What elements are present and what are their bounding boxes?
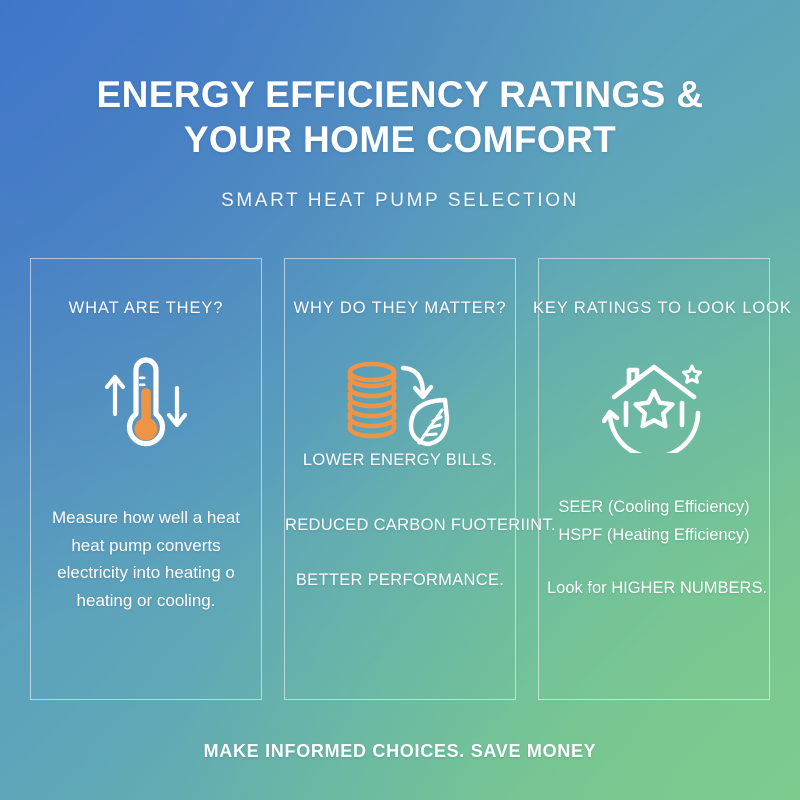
title-line-2: YOUR HOME COMFORT bbox=[184, 119, 616, 160]
card-heading: WHY DO THEY MATTER? bbox=[279, 299, 521, 318]
footer-tagline: MAKE INFORMED CHOICES. SAVE MONEY bbox=[0, 741, 800, 762]
infographic-poster: ENERGY EFFICIENCY RATINGS & YOUR HOME CO… bbox=[0, 0, 800, 800]
title-line-1: ENERGY EFFICIENCY RATINGS & bbox=[97, 74, 704, 115]
benefit-line: LOWER ENERGY BILLS. bbox=[293, 451, 507, 470]
ratings-note: Look for HIGHER NUMBERS. bbox=[547, 579, 761, 598]
card-heading: KEY RATINGS TO LOOK LOOK bbox=[533, 299, 775, 318]
benefit-line: BETTER PERFORMANCE. bbox=[293, 571, 507, 590]
card-row: WHAT ARE THEY? bbox=[0, 258, 800, 702]
house-stars-icon bbox=[539, 349, 769, 459]
thermometer-arrows-icon bbox=[31, 349, 261, 459]
rating-line: HSPF (Heating Efficiency) bbox=[547, 522, 761, 550]
card-ratings-list: SEER (Cooling Efficiency) HSPF (Heating … bbox=[547, 494, 761, 598]
card-key-ratings: KEY RATINGS TO LOOK LOOK bbox=[538, 258, 770, 700]
page-title: ENERGY EFFICIENCY RATINGS & YOUR HOME CO… bbox=[50, 72, 750, 162]
card-what-are-they: WHAT ARE THEY? bbox=[30, 258, 262, 700]
card-heading: WHAT ARE THEY? bbox=[25, 299, 267, 318]
page-subtitle: SMART HEAT PUMP SELECTION bbox=[0, 190, 800, 212]
coins-to-leaf-icon bbox=[285, 349, 515, 459]
rating-line: SEER (Cooling Efficiency) bbox=[547, 494, 761, 522]
card-body-text: Measure how well a heat heat pump conver… bbox=[39, 504, 253, 614]
card-why-do-they-matter: WHY DO THEY MATTER? bbox=[284, 258, 516, 700]
benefit-line: REDUCED CARBON FUOTERIINT. bbox=[285, 516, 525, 535]
header: ENERGY EFFICIENCY RATINGS & YOUR HOME CO… bbox=[0, 0, 800, 212]
card-benefit-list: LOWER ENERGY BILLS. REDUCED CARBON FUOTE… bbox=[293, 451, 507, 590]
